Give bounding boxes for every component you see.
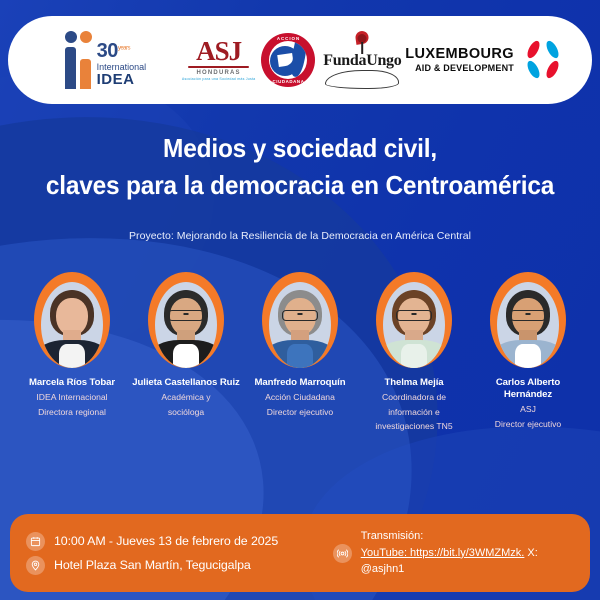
luxembourg-petals-icon (524, 40, 564, 80)
stream-links[interactable]: YouTube: https://bit.ly/3WMZMzk. X: @asj… (361, 545, 574, 578)
asj-country: HONDURAS (182, 70, 256, 76)
event-datetime: 10:00 AM - Jueves 13 de febrero de 2025 (54, 534, 278, 548)
fundaungo-rose-icon (323, 31, 401, 53)
fundaungo-wordmark: FundaUngo (323, 53, 401, 69)
accion-ciudadana-emblem-icon: ACCION CIUDADANA (261, 33, 315, 87)
speaker-card: Carlos Alberto Hernández ASJ Director ej… (474, 272, 582, 433)
logo-asj-honduras: ASJ HONDURAS Asociación para una Socieda… (180, 16, 258, 104)
ac-ring-bottom: CIUDADANA (261, 79, 315, 84)
speaker-role: Director ejecutivo (474, 418, 582, 431)
speaker-list: Marcela Ríos Tobar IDEA Internacional Di… (18, 272, 582, 433)
location-pin-icon (26, 556, 45, 575)
calendar-icon (26, 532, 45, 551)
event-stream-block: Transmisión: YouTube: https://bit.ly/3WM… (333, 528, 574, 578)
logo-international-idea: 30years International IDEA (30, 16, 180, 104)
speaker-name: Thelma Mejía (360, 377, 468, 389)
luxembourg-name: LUXEMBOURG (405, 45, 514, 63)
speaker-card: Manfredo Marroquín Acción Ciudadana Dire… (246, 272, 354, 433)
event-datetime-row: 10:00 AM - Jueves 13 de febrero de 2025 (26, 532, 333, 551)
avatar (262, 272, 338, 368)
asj-tagline: Asociación para una Sociedad más Justa (182, 78, 256, 82)
logo-fundaungo: FundaUngo (319, 16, 405, 104)
speaker-role: Directora regional (18, 406, 126, 419)
event-details-bar: 10:00 AM - Jueves 13 de febrero de 2025 … (10, 514, 590, 592)
speaker-role: información e investigaciones TN5 (360, 406, 468, 433)
avatar (148, 272, 224, 368)
event-venue-row: Hotel Plaza San Martín, Tegucigalpa (26, 556, 333, 575)
speaker-card: Julieta Castellanos Ruiz Académica y soc… (132, 272, 240, 433)
title-line-2: claves para la democracia en Centroaméri… (18, 167, 582, 204)
asj-acronym: ASJ (182, 38, 256, 65)
event-venue: Hotel Plaza San Martín, Tegucigalpa (54, 558, 251, 572)
project-subtitle: Proyecto: Mejorando la Resiliencia de la… (0, 230, 600, 242)
speaker-name: Marcela Ríos Tobar (18, 377, 126, 389)
avatar (376, 272, 452, 368)
title-line-1: Medios y sociedad civil, (18, 130, 582, 167)
idea-figures-icon (64, 31, 94, 89)
speaker-org: IDEA Internacional (18, 391, 126, 404)
avatar (490, 272, 566, 368)
speaker-org: Académica y (132, 391, 240, 404)
stream-youtube-link[interactable]: YouTube: https://bit.ly/3WMZMzk. (361, 547, 525, 559)
broadcast-icon (333, 544, 352, 563)
logo-accion-ciudadana: ACCION CIUDADANA (258, 16, 320, 104)
idea-anniversary: 30years (97, 41, 147, 61)
speaker-name: Julieta Castellanos Ruiz (132, 377, 240, 389)
speaker-name: Manfredo Marroquín (246, 377, 354, 389)
ac-ring-top: ACCION (261, 36, 315, 41)
logo-luxembourg-aid: LUXEMBOURG AID & DEVELOPMENT (405, 16, 570, 104)
sponsor-logo-bar: 30years International IDEA ASJ HONDURAS … (8, 16, 592, 104)
page-title: Medios y sociedad civil, claves para la … (18, 130, 582, 204)
speaker-role: Director ejecutivo (246, 406, 354, 419)
luxembourg-subtitle: AID & DEVELOPMENT (405, 63, 514, 74)
speaker-role: socióloga (132, 406, 240, 419)
speaker-org: Coordinadora de (360, 391, 468, 404)
idea-word-idea: IDEA (97, 72, 147, 87)
speaker-card: Marcela Ríos Tobar IDEA Internacional Di… (18, 272, 126, 433)
asj-rule (188, 66, 250, 68)
event-details-left: 10:00 AM - Jueves 13 de febrero de 2025 … (26, 527, 333, 580)
event-poster: 30years International IDEA ASJ HONDURAS … (0, 0, 600, 600)
speaker-org: Acción Ciudadana (246, 391, 354, 404)
stream-label: Transmisión: (361, 528, 574, 545)
speaker-org: ASJ (474, 403, 582, 416)
speaker-card: Thelma Mejía Coordinadora de información… (360, 272, 468, 433)
speaker-name: Carlos Alberto Hernández (474, 377, 582, 401)
fundaungo-rock-icon (325, 70, 399, 89)
avatar (34, 272, 110, 368)
